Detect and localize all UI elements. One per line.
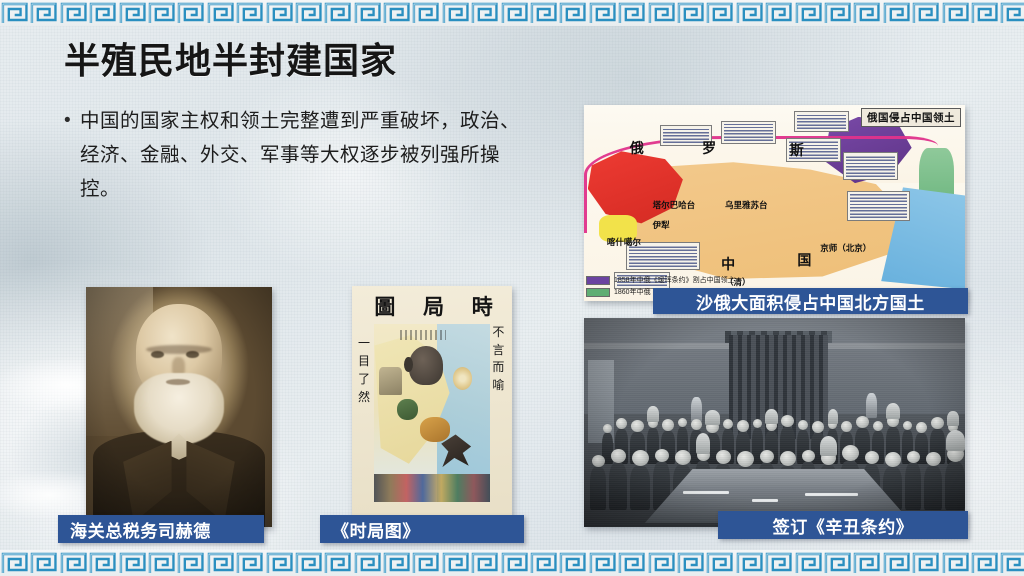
- photo-delegate-head: [723, 419, 733, 429]
- map-legend-row: 1858年中俄《瑷珲条约》割占中国领土: [586, 275, 776, 285]
- greek-key-unit: [118, 550, 147, 576]
- greek-key-unit: [118, 0, 147, 26]
- greek-key-unit: [705, 0, 734, 26]
- photo-delegate-head: [907, 451, 920, 463]
- photo-delegate-head: [865, 451, 879, 464]
- poster-vertical-char: 不: [489, 324, 508, 341]
- greek-key-unit: [529, 0, 558, 26]
- bullet-text: 中国的国家主权和领土完整遭到严重破坏，政治、经济、金融、外交、军事等大权逐步被列…: [80, 104, 534, 206]
- photo-delegate: [632, 450, 649, 510]
- greek-key-unit: [59, 0, 88, 26]
- map-illustration: 俄 罗 斯 中 国 （清） 乌里雅苏台 伊犁 喀什噶尔 塔尔巴哈台 京师（北京）…: [584, 105, 965, 301]
- photo-delegate-hat: [647, 406, 658, 422]
- photo-delegate-head: [691, 419, 702, 430]
- greek-key-unit: [0, 0, 29, 26]
- greek-key-unit: [617, 550, 646, 576]
- greek-key-unit: [265, 0, 294, 26]
- map-legend-swatch-1858: [586, 276, 610, 285]
- greek-key-unit: [882, 0, 911, 26]
- bullet-marker: •: [64, 104, 80, 138]
- greek-key-unit: [59, 550, 88, 576]
- greek-key-unit: [735, 550, 764, 576]
- photo-delegate: [611, 449, 626, 510]
- bullet-list: • 中国的国家主权和领土完整遭到严重破坏，政治、经济、金融、外交、军事等大权逐步…: [64, 104, 534, 206]
- photo-delegate-head: [611, 449, 626, 463]
- photo-delegate-head: [592, 455, 605, 467]
- greek-key-unit: [529, 550, 558, 576]
- greek-key-unit: [0, 550, 29, 576]
- greek-key-unit: [970, 550, 999, 576]
- poster-bear-russia: [409, 346, 444, 385]
- photo-delegate-head: [842, 445, 859, 461]
- greek-key-unit: [382, 550, 411, 576]
- photo-delegate-body: [609, 463, 627, 510]
- map-label-luo: 罗: [702, 138, 716, 158]
- poster-vertical-char: 言: [489, 342, 508, 359]
- photo-delegate-head: [916, 422, 927, 433]
- greek-key-unit: [353, 0, 382, 26]
- greek-key-unit: [823, 0, 852, 26]
- greek-key-unit: [294, 550, 323, 576]
- photo-delegate-hat: [828, 409, 838, 424]
- bottom-border-strip: [0, 550, 1024, 576]
- photo-delegate: [907, 451, 920, 510]
- greek-key-unit: [764, 550, 793, 576]
- greek-key-unit: [323, 550, 352, 576]
- greek-key-unit: [999, 0, 1024, 26]
- photo-delegate-head: [675, 450, 691, 465]
- photo-delegate-head: [616, 418, 627, 429]
- poster-inscription: [400, 330, 446, 341]
- greek-key-unit: [764, 0, 793, 26]
- photo-delegate-head: [903, 421, 912, 430]
- greek-key-unit: [176, 550, 205, 576]
- photo-delegate-hat: [705, 410, 720, 425]
- greek-key-unit: [29, 550, 58, 576]
- poster-frog-france: [397, 399, 418, 420]
- map-callout-6: [847, 191, 910, 220]
- greek-key-unit: [29, 0, 58, 26]
- map-label-guo: 国: [797, 250, 811, 270]
- map-legend-label-1858: 1858年中俄《瑷珲条约》割占中国领土: [614, 275, 735, 285]
- greek-key-unit: [882, 550, 911, 576]
- greek-key-unit: [88, 550, 117, 576]
- map-legend-swatch-1860: [586, 288, 610, 297]
- photo-delegate-head: [780, 451, 796, 466]
- greek-key-unit: [911, 0, 940, 26]
- presentation-slide: 半殖民地半封建国家 • 中国的国家主权和领土完整遭到严重破坏，政治、经济、金融、…: [0, 0, 1024, 576]
- map-callout-2: [721, 121, 776, 145]
- poster-flags-band: [374, 474, 489, 502]
- photo-delegate-body: [630, 466, 650, 510]
- greek-key-unit: [794, 0, 823, 26]
- greek-key-unit: [647, 550, 676, 576]
- map-label-beijing: 京师（北京）: [820, 242, 871, 254]
- photo-document: [752, 499, 779, 502]
- portrait-illustration: [86, 287, 272, 527]
- photo-delegate-hat: [820, 436, 837, 456]
- poster-vertical-char: 了: [355, 370, 373, 388]
- greek-key-unit: [794, 550, 823, 576]
- greek-key-unit: [941, 550, 970, 576]
- greek-key-unit: [911, 550, 940, 576]
- greek-key-unit: [470, 0, 499, 26]
- greek-key-unit: [265, 550, 294, 576]
- photo-delegate-head: [662, 419, 674, 431]
- photo-delegate-head: [885, 452, 901, 467]
- greek-key-unit: [588, 0, 617, 26]
- greek-key-unit: [382, 0, 411, 26]
- poster-vertical-text-left: 一目了然: [355, 334, 373, 406]
- top-border-strip: [0, 0, 1024, 26]
- poster-vertical-char: 目: [355, 352, 373, 370]
- poster-vertical-char: 然: [355, 388, 373, 406]
- greek-key-unit: [647, 0, 676, 26]
- poster-vertical-text-right: 不言而喻: [489, 324, 508, 394]
- poster-dog-britain: [420, 417, 450, 442]
- photo-boxer-protocol-signing-image[interactable]: [584, 318, 965, 527]
- map-label-e: 俄: [630, 138, 644, 158]
- greek-key-unit: [970, 0, 999, 26]
- poster-title-char-1: 圖: [374, 291, 395, 321]
- poster-vertical-char: 喻: [489, 377, 508, 394]
- greek-key-unit: [941, 0, 970, 26]
- photo-delegate-head: [812, 421, 824, 433]
- greek-key-unit: [411, 550, 440, 576]
- photo-delegate-hat: [946, 430, 965, 452]
- map-label-zhong: 中: [721, 254, 735, 274]
- photo-delegate-head: [753, 419, 762, 428]
- poster-shijutu-image[interactable]: 圖 局 時 一目了然 不言而喻: [352, 286, 512, 526]
- poster-figures-group: [379, 367, 402, 395]
- photo-delegate-head: [603, 424, 612, 433]
- photo-delegate-head: [781, 415, 794, 427]
- greek-key-unit: [500, 550, 529, 576]
- map-russian-occupation-image[interactable]: 俄 罗 斯 中 国 （清） 乌里雅苏台 伊犁 喀什噶尔 塔尔巴哈台 京师（北京）…: [584, 105, 965, 301]
- greek-key-unit: [823, 550, 852, 576]
- map-label-yili: 伊犁: [653, 219, 670, 231]
- photo-delegate-body: [590, 467, 605, 510]
- greek-key-unit: [500, 0, 529, 26]
- photo-delegate-head: [655, 449, 669, 462]
- greek-key-unit: [88, 0, 117, 26]
- greek-key-unit: [999, 550, 1024, 576]
- caption-photo-boxer-protocol: 签订《辛丑条约》: [718, 511, 968, 539]
- photo-delegate-hat: [947, 411, 958, 425]
- greek-key-unit: [294, 0, 323, 26]
- photo-delegate-hat: [886, 403, 899, 420]
- greek-key-unit: [176, 0, 205, 26]
- poster-vertical-char: 一: [355, 334, 373, 352]
- photo-delegate-head: [926, 452, 941, 466]
- greek-key-unit: [852, 550, 881, 576]
- photo-delegate-body: [924, 466, 942, 510]
- poster-title-char-3: 時: [472, 291, 493, 321]
- photo-delegate-head: [631, 420, 644, 432]
- poster-title-char-2: 局: [423, 291, 444, 321]
- greek-key-unit: [852, 0, 881, 26]
- greek-key-unit: [617, 0, 646, 26]
- greek-key-unit: [323, 0, 352, 26]
- map-callout-4: [794, 111, 849, 133]
- map-label-si: 斯: [790, 140, 804, 160]
- caption-map-russian-occupation: 沙俄大面积侵占中国北方国土: [653, 288, 968, 314]
- greek-key-unit: [147, 0, 176, 26]
- photo-delegate-head: [678, 418, 687, 427]
- photo-document: [805, 493, 858, 496]
- greek-key-unit: [588, 550, 617, 576]
- treaty-photo-illustration: [584, 318, 965, 527]
- greek-key-unit: [735, 0, 764, 26]
- greek-key-unit: [206, 550, 235, 576]
- caption-poster-shijutu: 《时局图》: [320, 515, 524, 543]
- poster-map-area: [374, 324, 489, 502]
- greek-key-unit: [353, 550, 382, 576]
- photo-delegate-body: [945, 462, 965, 510]
- photo-delegate: [947, 446, 964, 510]
- photo-delegate-head: [931, 417, 944, 429]
- map-callout-5: [843, 152, 898, 179]
- photo-delegate-head: [802, 450, 815, 462]
- greek-key-pattern-top: [0, 0, 1024, 26]
- greek-key-unit: [147, 550, 176, 576]
- greek-key-unit: [441, 550, 470, 576]
- photo-delegate-hat: [696, 433, 711, 454]
- poster-illustration: 圖 局 時 一目了然 不言而喻: [352, 286, 512, 526]
- greek-key-unit: [411, 0, 440, 26]
- greek-key-unit: [441, 0, 470, 26]
- map-title: 俄国侵占中国领土: [861, 108, 961, 127]
- photo-delegate-head: [873, 421, 883, 431]
- greek-key-unit: [558, 0, 587, 26]
- map-label-tarbagatai: 塔尔巴哈台: [653, 199, 696, 211]
- bullet-item: • 中国的国家主权和领土完整遭到严重破坏，政治、经济、金融、外交、军事等大权逐步…: [64, 104, 534, 206]
- photo-delegate-head: [737, 451, 754, 467]
- photo-delegate-hat: [765, 409, 777, 424]
- photo-delegate-head: [632, 450, 649, 466]
- photo-delegate-head: [798, 420, 808, 430]
- photo-delegate-body: [905, 463, 920, 510]
- portrait-robert-hart-image[interactable]: [86, 287, 272, 527]
- greek-key-pattern-bottom: [0, 550, 1024, 576]
- photo-document: [683, 491, 729, 494]
- greek-key-unit: [705, 550, 734, 576]
- photo-delegate-head: [856, 416, 869, 428]
- page-title: 半殖民地半封建国家: [64, 32, 397, 84]
- photo-delegate-head: [841, 421, 852, 432]
- greek-key-unit: [206, 0, 235, 26]
- photo-delegate: [926, 452, 941, 510]
- greek-key-unit: [676, 550, 705, 576]
- greek-key-unit: [235, 0, 264, 26]
- greek-key-unit: [235, 550, 264, 576]
- greek-key-unit: [558, 550, 587, 576]
- greek-key-unit: [470, 550, 499, 576]
- poster-vertical-char: 而: [489, 359, 508, 376]
- caption-portrait-robert-hart: 海关总税务司赫德: [58, 515, 264, 543]
- map-label-kashgar: 喀什噶尔: [607, 236, 641, 248]
- greek-key-unit: [676, 0, 705, 26]
- photo-delegate: [592, 455, 605, 510]
- photo-delegate-head: [737, 420, 749, 432]
- map-label-uliasutai: 乌里雅苏台: [725, 199, 768, 211]
- photo-delegate-head: [716, 450, 731, 464]
- photo-delegate-head: [760, 450, 774, 463]
- poster-title: 圖 局 時: [374, 291, 492, 322]
